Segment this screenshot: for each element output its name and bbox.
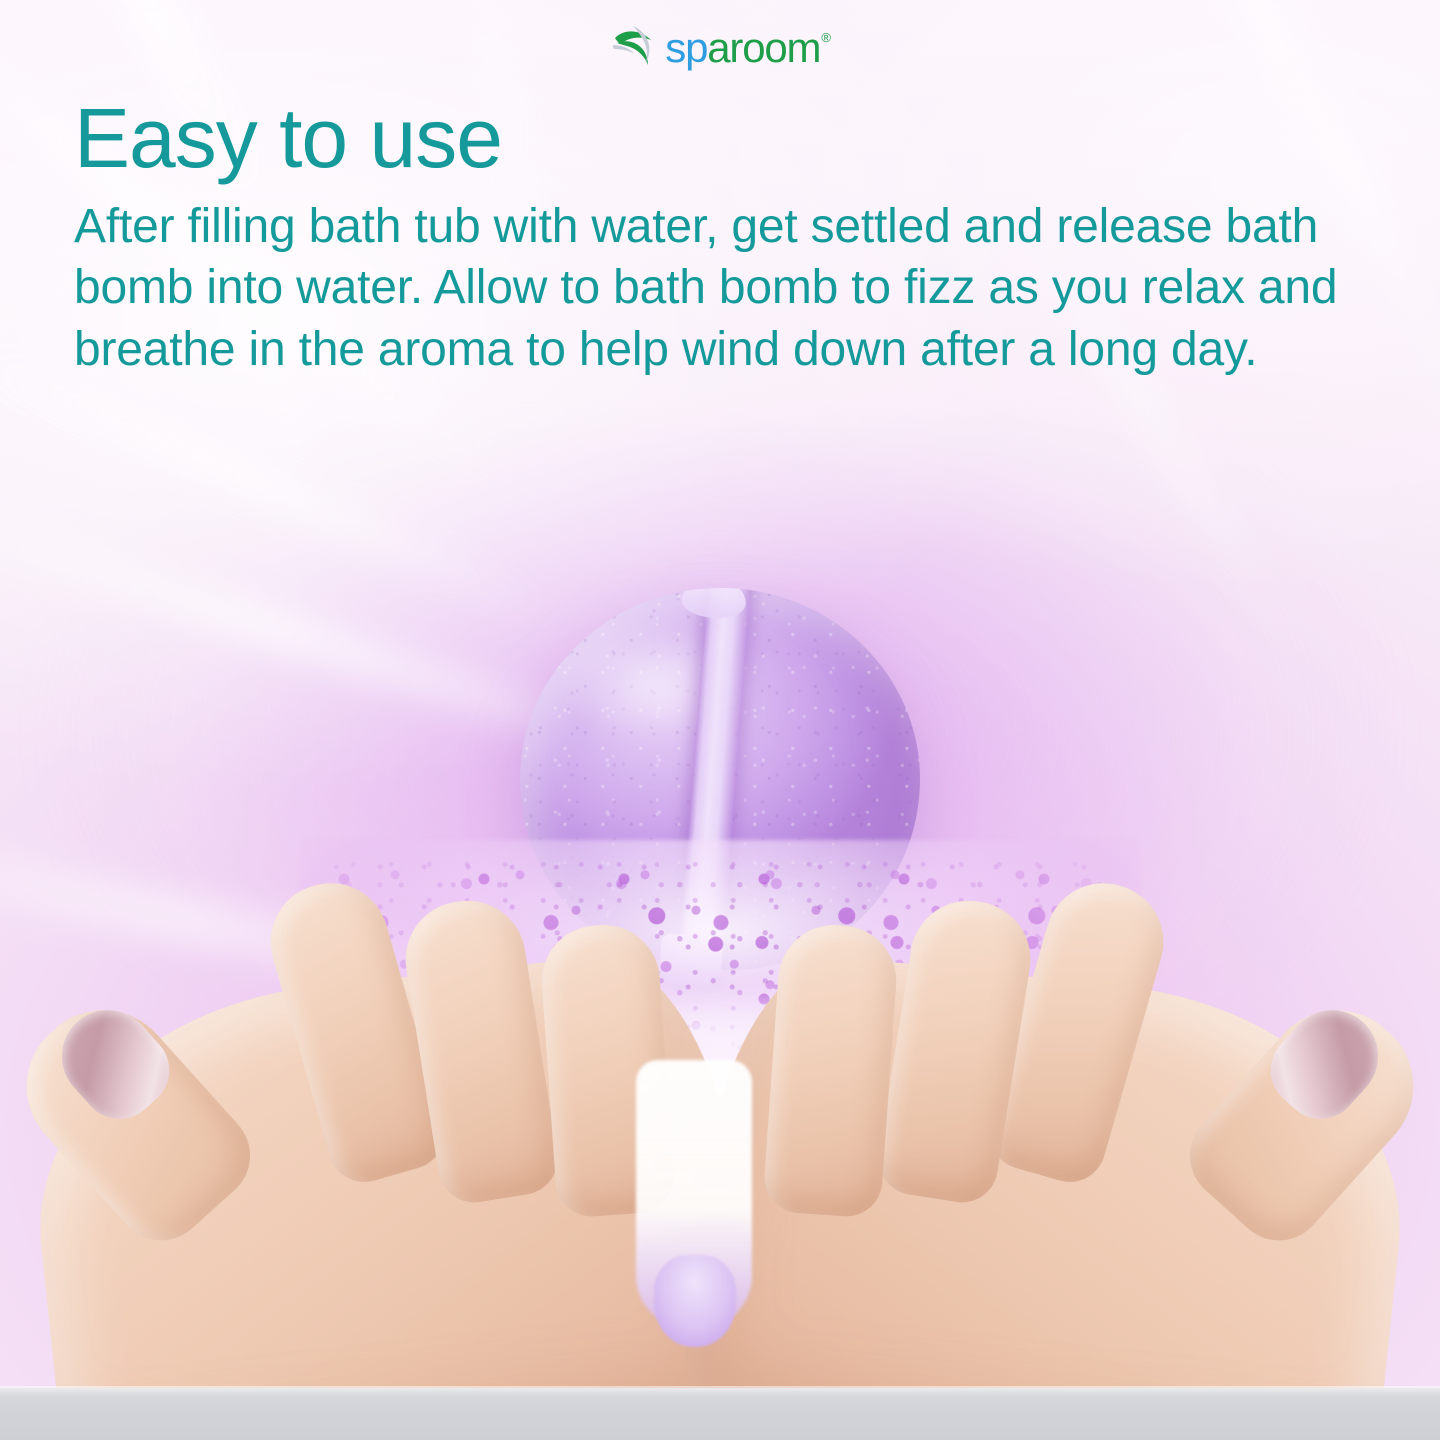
page-title: Easy to use xyxy=(74,96,1394,182)
product-lifestyle-card: sparoom® Easy to use After filling bath … xyxy=(0,0,1440,1440)
right-hand-finger xyxy=(762,921,900,1219)
logo-text-sp: sp xyxy=(665,24,707,71)
brand-logo: sparoom® xyxy=(0,18,1440,72)
footer-bar-middle xyxy=(250,1388,1230,1440)
copy-block: Easy to use After filling bath tub with … xyxy=(74,96,1394,380)
footer-bar-right xyxy=(1230,1388,1440,1440)
logo-text-aroom: aroom xyxy=(707,24,820,71)
foam-drip-tip xyxy=(654,1255,736,1347)
leaf-swoosh-icon xyxy=(611,23,665,67)
bath-bomb-seam-bottom xyxy=(658,933,723,987)
instructions-text: After filling bath tub with water, get s… xyxy=(74,196,1374,380)
footer-bar-left xyxy=(0,1388,250,1440)
bath-bomb xyxy=(520,588,920,970)
registered-trademark-icon: ® xyxy=(821,30,829,45)
